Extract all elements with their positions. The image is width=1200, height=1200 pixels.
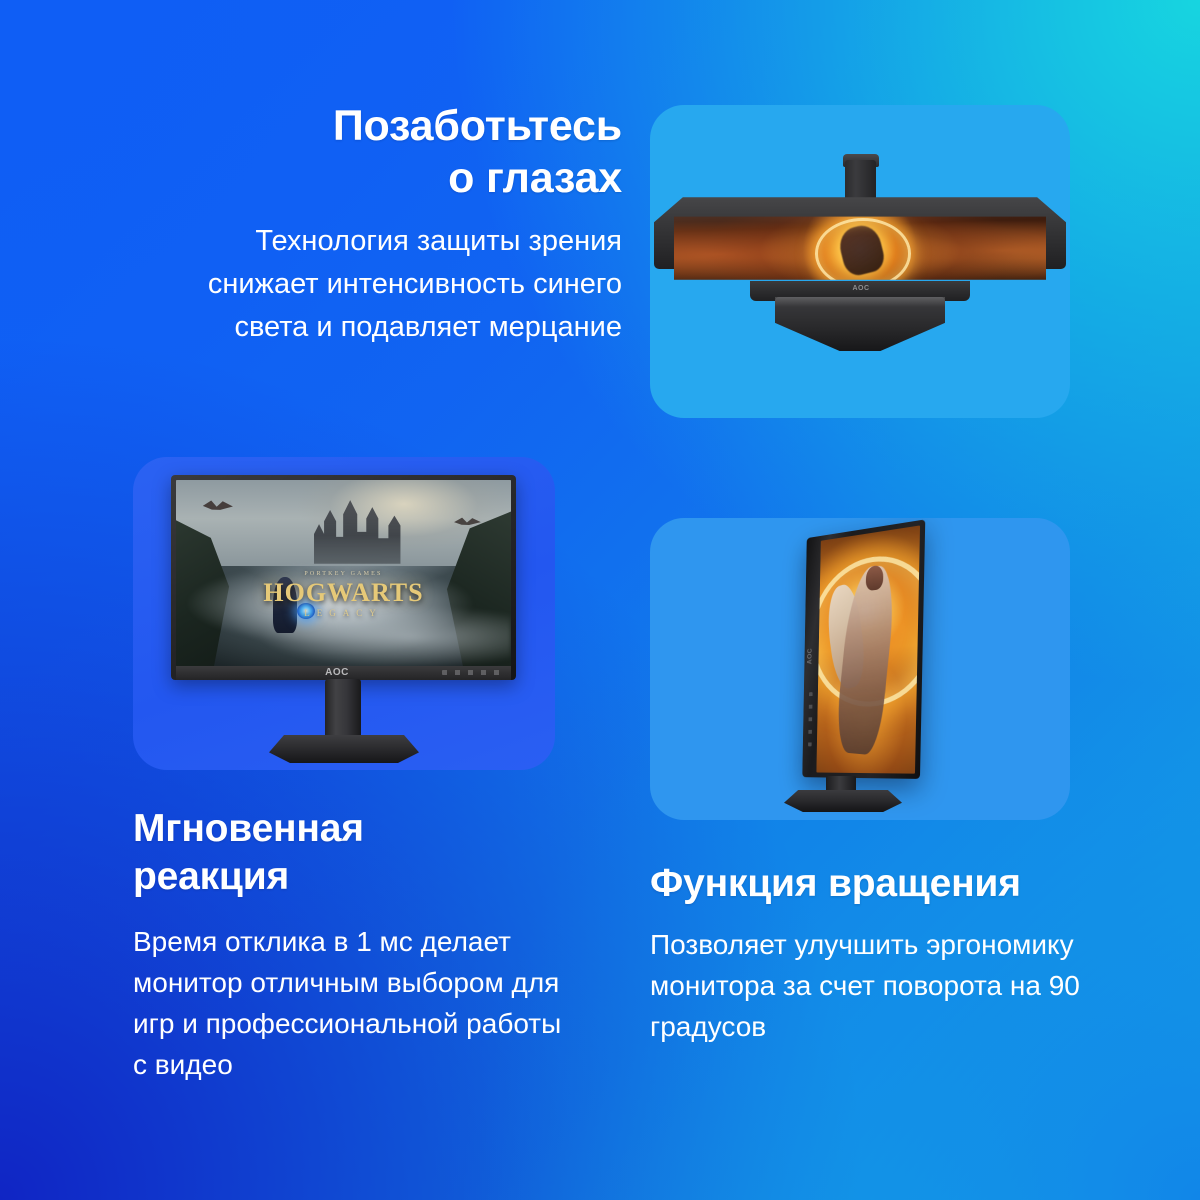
curved-monitor-brand-logo: AOC: [846, 285, 876, 293]
flat-monitor-bezel: PORTKEY GAMES HOGWARTS LEGACY AOC: [171, 475, 516, 680]
flat-monitor-screen: PORTKEY GAMES HOGWARTS LEGACY: [176, 480, 511, 666]
eye-care-heading: Позаботьтесь о глазах: [160, 100, 622, 204]
card-pivot-monitor: AOC: [650, 518, 1070, 820]
pivot-monitor-bezel: AOC: [802, 519, 925, 779]
flat-monitor-neck: [325, 679, 361, 739]
instant-response-heading-line1: Мгновенная: [133, 807, 364, 850]
instant-response-heading-line2: реакция: [133, 855, 289, 898]
eye-care-body: Технология защиты зрения снижает интенси…: [160, 220, 622, 349]
curved-screen-glare: [674, 212, 1046, 289]
pivot-monitor-stand-base: [784, 790, 902, 812]
pivot-monitor-illustration: AOC: [650, 518, 1070, 820]
pivot-monitor-brand-logo: AOC: [807, 645, 817, 667]
pivot-monitor-control-buttons: [808, 692, 813, 746]
flat-monitor-stand-base: [269, 735, 419, 763]
curved-monitor-base-sheen: [775, 297, 945, 307]
eye-care-heading-line1: Позаботьтесь: [333, 102, 622, 150]
flat-monitor-illustration: PORTKEY GAMES HOGWARTS LEGACY AOC: [133, 457, 555, 770]
game-kicker-text: PORTKEY GAMES: [176, 571, 511, 577]
feature-block-eye-care: Позаботьтесь о глазах Технология защиты …: [160, 100, 622, 349]
feature-block-pivot-function: Функция вращения Позволяет улучшить эрго…: [650, 860, 1120, 1047]
game-title-text: HOGWARTS: [176, 580, 511, 606]
eye-care-heading-line2: о глазах: [448, 154, 622, 202]
flat-monitor-control-buttons: [442, 670, 502, 675]
instant-response-body: Время отклика в 1 мс делает монитор отли…: [133, 921, 573, 1085]
instant-response-heading: Мгновенная реакция: [133, 805, 573, 901]
card-flat-monitor: PORTKEY GAMES HOGWARTS LEGACY AOC: [133, 457, 555, 770]
product-feature-poster: Позаботьтесь о глазах Технология защиты …: [0, 0, 1200, 1200]
pivot-function-body: Позволяет улучшить эргономику монитора з…: [650, 924, 1120, 1047]
flat-monitor-brand-logo: AOC: [316, 667, 358, 679]
game-subtitle-text: LEGACY: [176, 608, 511, 618]
curved-monitor-illustration: AOC: [650, 105, 1070, 418]
feature-block-instant-response: Мгновенная реакция Время отклика в 1 мс …: [133, 805, 573, 1085]
pivot-monitor-body: AOC: [802, 519, 925, 789]
card-curved-monitor: AOC: [650, 105, 1070, 418]
pivot-function-heading: Функция вращения: [650, 860, 1120, 908]
pivot-monitor-screen: [816, 525, 920, 773]
